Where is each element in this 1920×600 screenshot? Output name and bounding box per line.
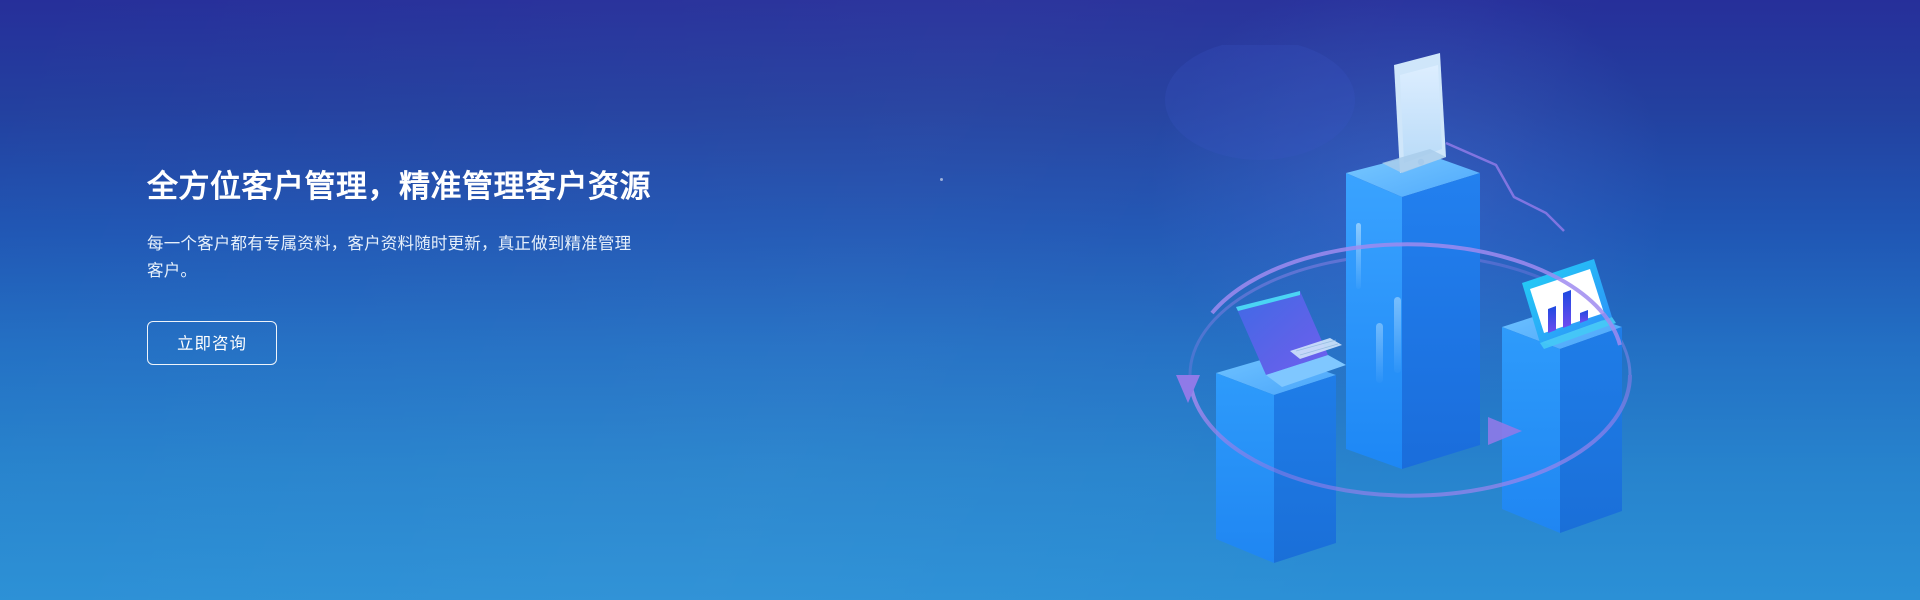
banner-headline: 全方位客户管理，精准管理客户资源 <box>147 168 787 207</box>
background-halo <box>1165 45 1355 160</box>
tablet-device <box>1382 53 1446 173</box>
consult-now-button[interactable]: 立即咨询 <box>147 321 277 365</box>
banner-copy: 全方位客户管理，精准管理客户资源 每一个客户都有专属资料，客户资料随时更新，真正… <box>147 168 787 365</box>
hero-banner: 全方位客户管理，精准管理客户资源 每一个客户都有专属资料，客户资料随时更新，真正… <box>0 0 1920 600</box>
center-pillar <box>1346 153 1480 469</box>
sparkle-dot <box>940 178 943 181</box>
hero-illustration <box>1150 45 1670 565</box>
banner-subcopy: 每一个客户都有专属资料，客户资料随时更新，真正做到精准管理客户。 <box>147 231 637 285</box>
left-pillar <box>1216 355 1336 563</box>
